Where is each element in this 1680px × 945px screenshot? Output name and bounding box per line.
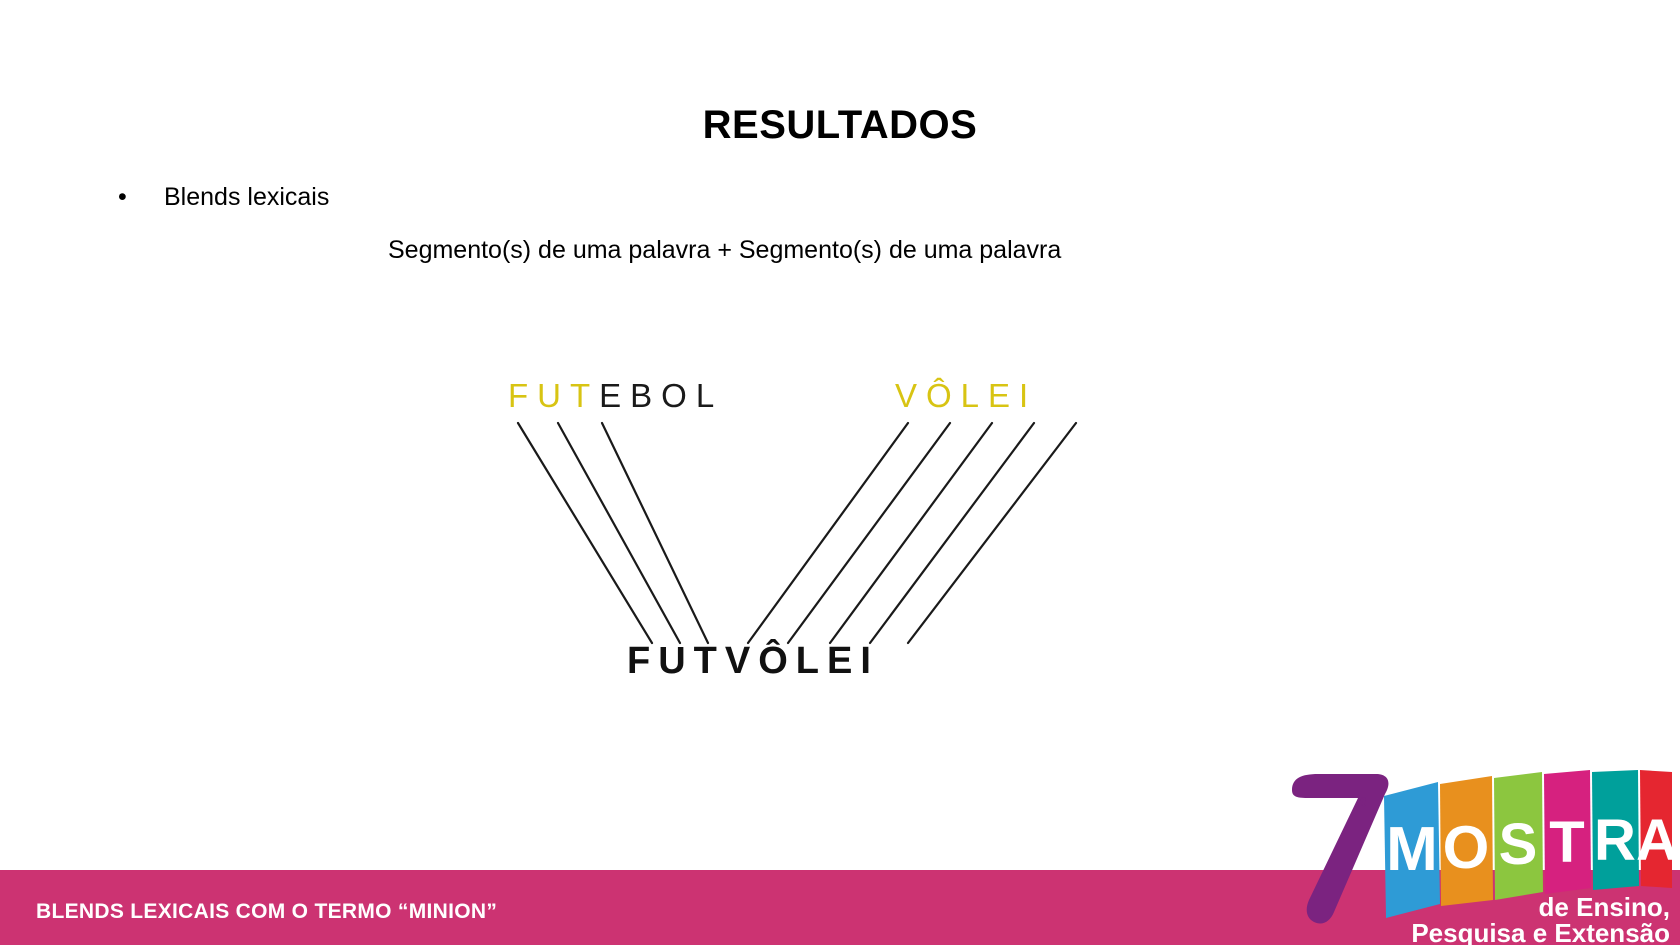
bullet-marker-icon: • — [118, 182, 164, 213]
svg-text:A: A — [1636, 808, 1672, 873]
logo-ordinal-seven-icon — [1292, 774, 1388, 924]
source-word-right: VÔLEI — [895, 377, 1037, 415]
source-left-highlight-segment: FUT — [508, 377, 599, 414]
logo-tagline-line2: Pesquisa e Extensão — [1411, 918, 1670, 945]
logo-tile-A: A — [1636, 770, 1672, 888]
blend-result-word: FUTVÔLEI — [627, 640, 879, 683]
bullet-item: • Blends lexicais — [118, 182, 329, 213]
logo-tile-O: O — [1440, 776, 1493, 906]
mostra-logo-graphic: ª M O S T R A — [1272, 752, 1672, 945]
logo-tile-R: R — [1592, 770, 1639, 890]
svg-text:T: T — [1549, 810, 1584, 875]
source-word-left: FUTEBOL — [508, 377, 723, 415]
svg-text:M: M — [1386, 815, 1438, 884]
svg-text:R: R — [1594, 808, 1636, 873]
blend-diagram: FUTEBOL VÔLEI FUTVÔLEI — [430, 355, 1190, 705]
svg-text:O: O — [1443, 814, 1490, 881]
blend-formula-text: Segmento(s) de uma palavra + Segmento(s)… — [388, 236, 1061, 265]
bullet-label: Blends lexicais — [164, 182, 329, 213]
source-right-highlight-segment: VÔLEI — [895, 377, 1037, 414]
logo-tile-S: S — [1494, 772, 1543, 900]
page-title: RESULTADOS — [0, 103, 1680, 148]
slide-canvas: RESULTADOS • Blends lexicais Segmento(s)… — [0, 0, 1680, 945]
logo-tile-M: M — [1384, 782, 1440, 918]
event-logo: ª M O S T R A — [1272, 752, 1672, 945]
logo-tile-T: T — [1544, 770, 1591, 894]
footer-banner-label: BLENDS LEXICAIS COM O TERMO “MINION” — [36, 900, 497, 924]
source-left-plain-segment: EBOL — [599, 377, 723, 414]
svg-text:S: S — [1499, 812, 1538, 877]
